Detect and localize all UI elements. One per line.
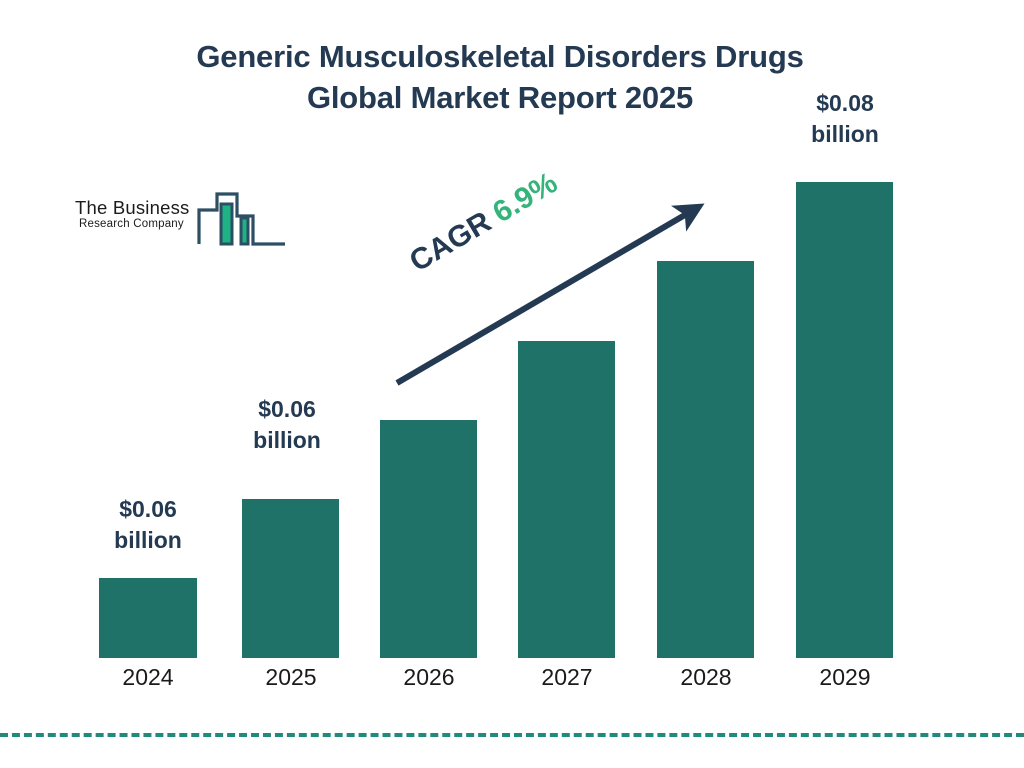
x-tick-2025: 2025 (231, 664, 351, 691)
logo-text: The Business Research Company (75, 198, 207, 232)
x-tick-2028: 2028 (646, 664, 766, 691)
bar-2026 (380, 420, 477, 658)
bar-2029 (796, 182, 893, 658)
logo-text-line-2: Research Company (75, 217, 207, 231)
value-label-2025: $0.06 billion (231, 394, 343, 457)
x-tick-2027: 2027 (507, 664, 627, 691)
value-label-2025-unit: billion (231, 425, 343, 456)
footer-divider (0, 733, 1024, 737)
x-tick-2024: 2024 (88, 664, 208, 691)
company-logo: The Business Research Company (75, 196, 287, 252)
value-label-2024-unit: billion (92, 525, 204, 556)
x-tick-2029: 2029 (785, 664, 905, 691)
bar-2024 (99, 578, 197, 658)
value-label-2024-amount: $0.06 (92, 494, 204, 525)
chart-canvas: Generic Musculoskeletal Disorders Drugs … (0, 0, 1024, 768)
value-label-2029-amount: $0.08 (789, 88, 901, 119)
x-tick-2026: 2026 (369, 664, 489, 691)
value-label-2029-unit: billion (789, 119, 901, 150)
logo-text-line-1: The Business (75, 198, 207, 217)
bar-2025 (242, 499, 339, 658)
value-label-2025-amount: $0.06 (231, 394, 343, 425)
bar-chart-logo-mark-icon (197, 188, 287, 252)
title-line-1: Generic Musculoskeletal Disorders Drugs (80, 36, 920, 77)
value-label-2024: $0.06 billion (92, 494, 204, 557)
cagr-growth-arrow-icon (380, 190, 720, 400)
value-label-2029: $0.08 billion (789, 88, 901, 151)
